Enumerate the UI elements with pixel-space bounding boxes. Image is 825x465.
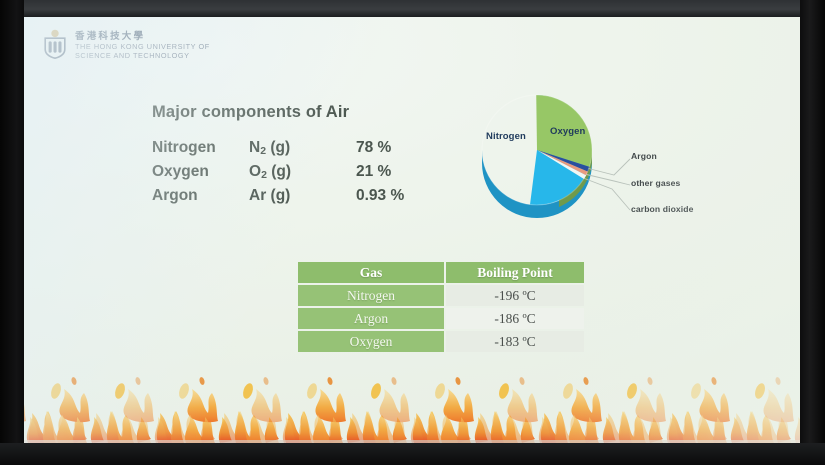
column-header-gas: Gas — [298, 262, 444, 283]
pie-callout-argon: Argon — [631, 151, 657, 161]
gas-percent: 21 % — [356, 163, 446, 181]
composition-row: Nitrogen N2 (g) 78 % — [152, 139, 446, 163]
slide-title: Major components of Air — [152, 103, 349, 122]
logo-name-english-line1: THE HONG KONG UNIVERSITY OF — [75, 42, 210, 51]
gas-formula: Ar (g) — [249, 187, 356, 205]
composition-row: Argon Ar (g) 0.93 % — [152, 187, 446, 211]
presentation-slide: 香港科技大學 THE HONG KONG UNIVERSITY OF SCIEN… — [24, 17, 800, 443]
cell-boiling-point: -186 ºC — [446, 308, 584, 329]
cell-gas-name: Argon — [298, 308, 444, 329]
air-composition-pie-chart: Nitrogen Oxygen Argon other gases carbon… — [464, 77, 734, 227]
pie-callout-carbon-dioxide: carbon dioxide — [631, 204, 694, 214]
screen-frame-top — [0, 0, 825, 17]
logo-name-english-line2: SCIENCE AND TECHNOLOGY — [75, 51, 210, 60]
hkust-logo: 香港科技大學 THE HONG KONG UNIVERSITY OF SCIEN… — [42, 29, 210, 60]
table-row: Argon -186 ºC — [298, 308, 584, 329]
cell-gas-name: Oxygen — [298, 331, 444, 352]
pie-slice-label-oxygen: Oxygen — [550, 126, 585, 137]
pie-callout-other-gases: other gases — [631, 178, 680, 188]
gas-formula: O2 (g) — [249, 163, 356, 181]
cell-gas-name: Nitrogen — [298, 285, 444, 306]
cell-boiling-point: -196 ºC — [446, 285, 584, 306]
boiling-point-table: Gas Boiling Point Nitrogen -196 ºC Argon… — [296, 260, 586, 354]
logo-name-chinese: 香港科技大學 — [75, 31, 210, 42]
composition-row: Oxygen O2 (g) 21 % — [152, 163, 446, 187]
hkust-shield-icon — [42, 29, 68, 59]
gas-name: Argon — [152, 187, 249, 205]
table-row: Nitrogen -196 ºC — [298, 285, 584, 306]
flame-border-decoration — [24, 371, 800, 443]
gas-percent: 0.93 % — [356, 187, 446, 205]
screen-frame-bottom — [0, 443, 825, 465]
gas-name: Oxygen — [152, 163, 249, 181]
screen-frame-right — [800, 0, 825, 465]
column-header-boiling-point: Boiling Point — [446, 262, 584, 283]
pie-slice-label-nitrogen: Nitrogen — [486, 131, 526, 142]
screen-frame-left — [0, 0, 24, 465]
flame-baseline — [24, 440, 800, 443]
cell-boiling-point: -183 ºC — [446, 331, 584, 352]
table-row: Oxygen -183 ºC — [298, 331, 584, 352]
projector-screen-frame: 香港科技大學 THE HONG KONG UNIVERSITY OF SCIEN… — [0, 0, 825, 465]
air-composition-list: Nitrogen N2 (g) 78 % Oxygen O2 (g) 21 % … — [152, 139, 446, 211]
gas-name: Nitrogen — [152, 139, 249, 157]
gas-percent: 78 % — [356, 139, 446, 157]
table-header-row: Gas Boiling Point — [298, 262, 584, 283]
gas-formula: N2 (g) — [249, 139, 356, 157]
